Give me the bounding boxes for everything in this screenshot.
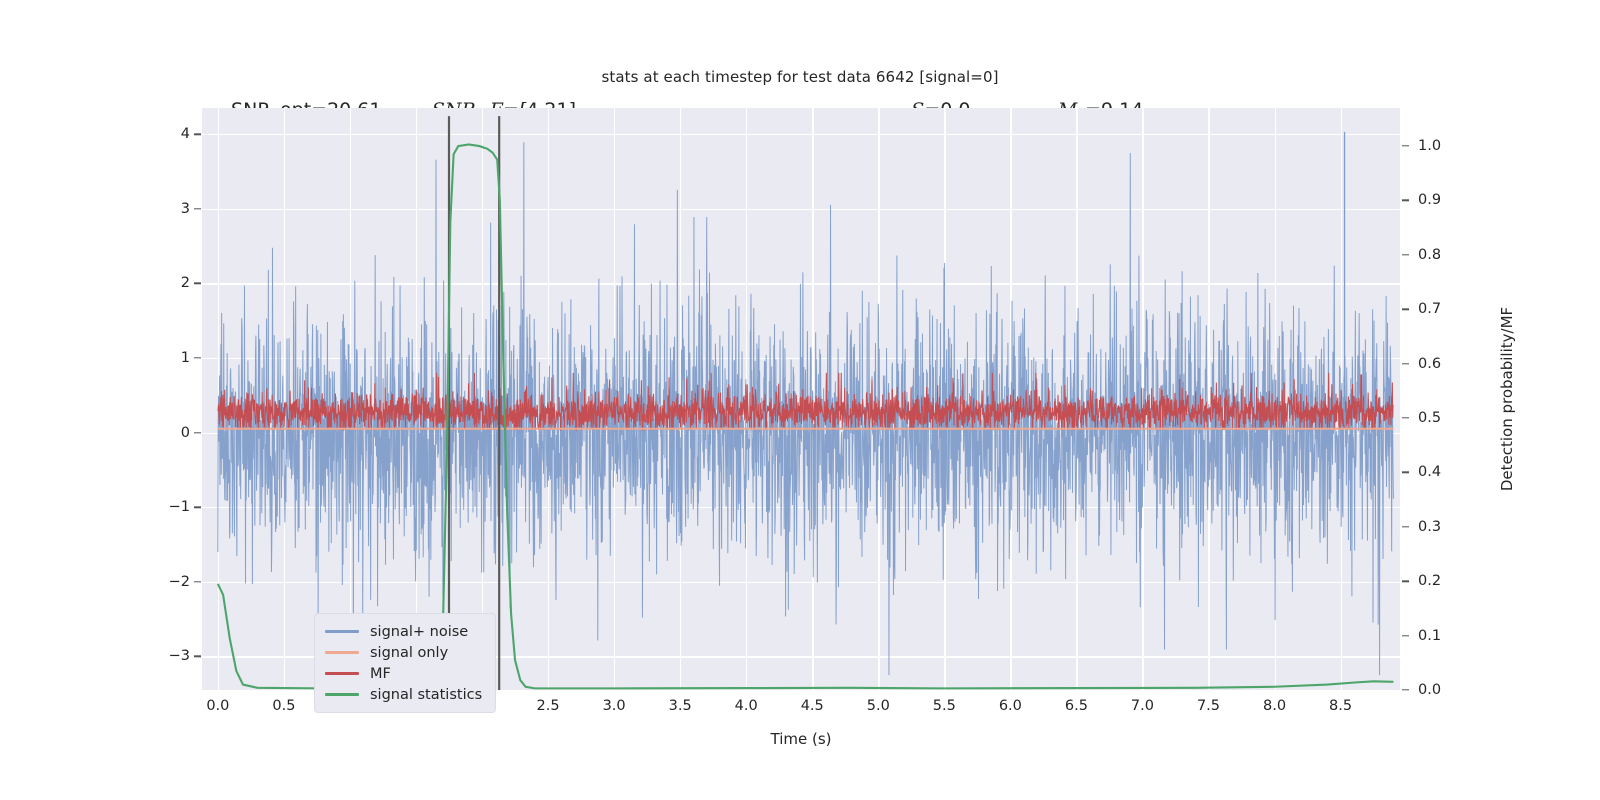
y-tick-mark-left <box>194 208 201 209</box>
y-tick-mark-left <box>194 506 201 507</box>
y-tick-mark-right <box>1402 417 1409 418</box>
y-tick-label-right: 0.1 <box>1418 628 1441 644</box>
y-axis-left-label-container: Whitened strain <box>148 108 168 690</box>
x-tick-label: 8.0 <box>1263 698 1286 714</box>
y-tick-label-left: −2 <box>169 574 190 590</box>
x-axis-label: Time (s) <box>202 730 1400 748</box>
x-tick-label: 7.5 <box>1197 698 1220 714</box>
y-axis-right-label-container: Detection probability/MF <box>1478 108 1498 690</box>
legend-line-swatch <box>325 651 359 653</box>
y-tick-mark-right <box>1402 200 1409 201</box>
y-tick-label-left: 0 <box>181 425 190 441</box>
y-tick-mark-left <box>194 133 201 134</box>
y-tick-label-right: 0.9 <box>1418 192 1441 208</box>
y-tick-label-right: 0.4 <box>1418 464 1441 480</box>
y-tick-mark-right <box>1402 309 1409 310</box>
legend-box[interactable]: signal+ noisesignal onlyMFsignal statist… <box>314 613 496 713</box>
y-tick-label-left: 1 <box>181 350 190 366</box>
y-tick-label-left: −3 <box>169 648 190 664</box>
y-tick-mark-right <box>1402 363 1409 364</box>
y-tick-mark-right <box>1402 145 1409 146</box>
y-tick-label-right: 0.8 <box>1418 247 1441 263</box>
plot-area <box>202 108 1400 690</box>
y-tick-mark-right <box>1402 581 1409 582</box>
y-tick-label-right: 0.7 <box>1418 301 1441 317</box>
y-tick-mark-left <box>194 656 201 657</box>
y-tick-label-right: 0.3 <box>1418 519 1441 535</box>
legend-label: signal+ noise <box>370 624 468 640</box>
legend-label: signal only <box>370 645 448 661</box>
x-tick-label: 0.0 <box>206 698 229 714</box>
y-tick-label-right: 0.0 <box>1418 682 1441 698</box>
legend-line-swatch <box>325 630 359 632</box>
y-tick-label-right: 0.6 <box>1418 356 1441 372</box>
x-tick-label: 4.5 <box>801 698 824 714</box>
chart-title: stats at each timestep for test data 664… <box>0 68 1600 86</box>
y-axis-right-label: Detection probability/MF <box>1498 108 1516 690</box>
y-tick-mark-left <box>194 357 201 358</box>
x-tick-label: 2.5 <box>537 698 560 714</box>
x-tick-label: 3.0 <box>603 698 626 714</box>
y-tick-mark-right <box>1402 689 1409 690</box>
y-tick-mark-right <box>1402 472 1409 473</box>
y-tick-mark-right <box>1402 254 1409 255</box>
legend-label: signal statistics <box>370 687 482 703</box>
y-tick-mark-right <box>1402 526 1409 527</box>
legend-item-1[interactable]: signal only <box>325 642 482 663</box>
y-axis-left-label: Whitened strain <box>148 0 166 108</box>
y-tick-label-left: 2 <box>181 275 190 291</box>
x-tick-label: 3.5 <box>669 698 692 714</box>
y-tick-mark-left <box>194 283 201 284</box>
figure-canvas: stats at each timestep for test data 664… <box>0 0 1600 800</box>
x-tick-label: 6.5 <box>1065 698 1088 714</box>
y-tick-mark-left <box>194 581 201 582</box>
legend-line-swatch <box>325 672 359 674</box>
legend-item-0[interactable]: signal+ noise <box>325 621 482 642</box>
y-tick-label-left: −1 <box>169 499 190 515</box>
y-tick-mark-left <box>194 432 201 433</box>
y-tick-label-left: 3 <box>181 201 190 217</box>
legend-label: MF <box>370 666 391 682</box>
x-tick-label: 7.0 <box>1131 698 1154 714</box>
data-traces <box>202 108 1400 690</box>
x-tick-label: 4.0 <box>735 698 758 714</box>
x-tick-label: 0.5 <box>272 698 295 714</box>
y-tick-mark-right <box>1402 635 1409 636</box>
y-tick-label-right: 1.0 <box>1418 138 1441 154</box>
y-tick-label-left: 4 <box>181 126 190 142</box>
x-tick-label: 6.0 <box>999 698 1022 714</box>
x-tick-label: 5.5 <box>933 698 956 714</box>
legend-item-2[interactable]: MF <box>325 663 482 684</box>
legend-line-swatch <box>325 693 359 695</box>
x-tick-label: 5.0 <box>867 698 890 714</box>
y-tick-label-right: 0.5 <box>1418 410 1441 426</box>
x-tick-label: 8.5 <box>1329 698 1352 714</box>
legend-item-3[interactable]: signal statistics <box>325 684 482 705</box>
y-tick-label-right: 0.2 <box>1418 573 1441 589</box>
